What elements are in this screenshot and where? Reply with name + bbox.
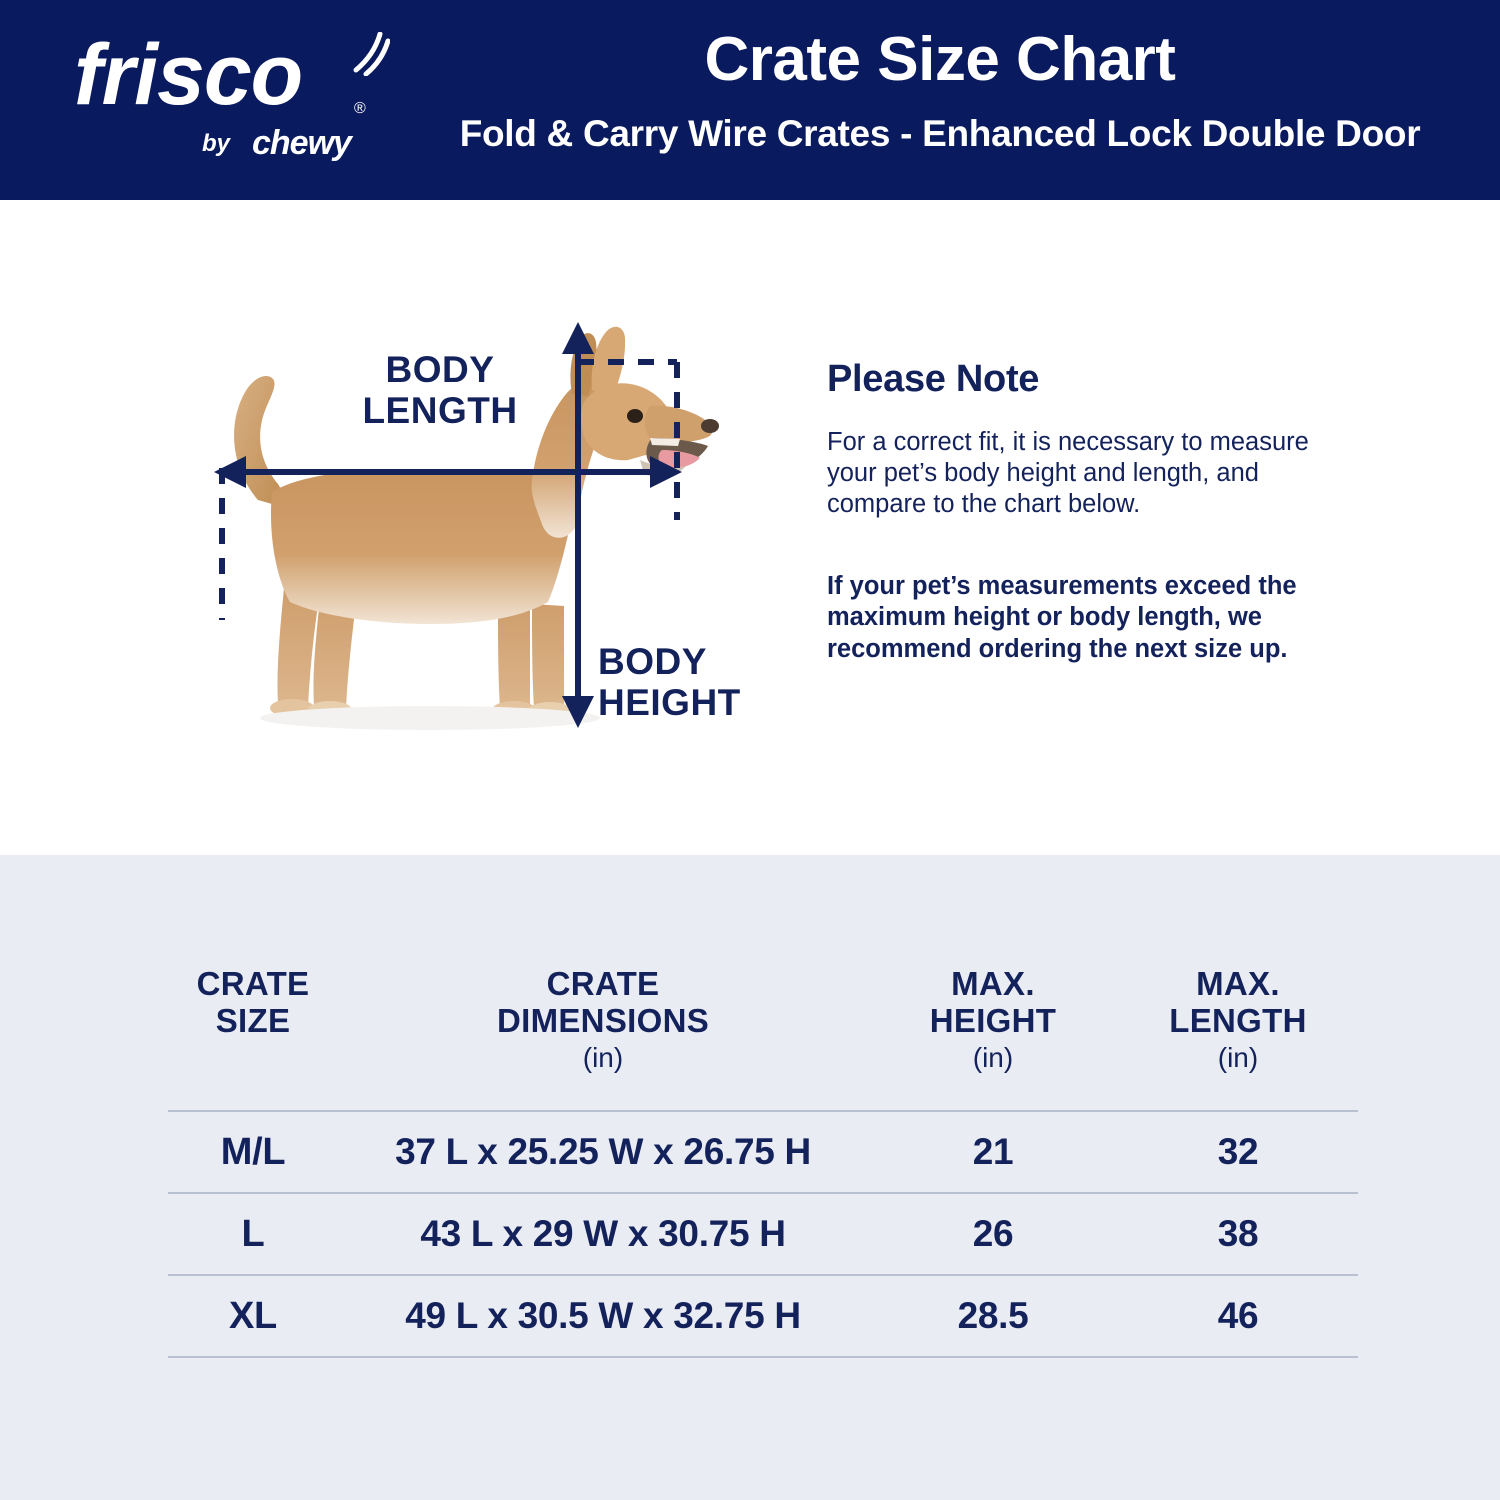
diagram-section: BODY LENGTH BODY HEIGHT Please Note For …: [0, 200, 1500, 855]
frisco-by-chewy-logo: frisco ® by chewy: [62, 26, 402, 176]
registered-trademark-icon: ®: [354, 100, 366, 118]
max-length-header-line2: LENGTH: [1169, 1002, 1306, 1039]
table-row: M/L 37 L x 25.25 W x 26.75 H 21 32: [168, 1110, 1358, 1192]
dog-front-leg-near: [532, 604, 564, 710]
max-length-header-line1: MAX.: [1196, 965, 1280, 1002]
dog-ground-shadow: [260, 706, 600, 730]
crate-dimensions-header-line2: DIMENSIONS: [497, 1002, 709, 1039]
please-note-panel: Please Note For a correct fit, it is nec…: [827, 358, 1357, 665]
cell-max-length: 46: [1118, 1295, 1358, 1337]
cell-crate-dimensions: 43 L x 29 W x 30.75 H: [338, 1213, 868, 1255]
body-length-label: BODY LENGTH: [320, 350, 560, 431]
column-header-max-height: MAX. HEIGHT (in): [868, 960, 1118, 1073]
dog-nose: [701, 419, 719, 433]
cell-max-height: 28.5: [868, 1295, 1118, 1337]
table-row: L 43 L x 29 W x 30.75 H 26 38: [168, 1192, 1358, 1274]
cell-crate-dimensions: 37 L x 25.25 W x 26.75 H: [338, 1131, 868, 1173]
please-note-paragraph-1: For a correct fit, it is necessary to me…: [827, 427, 1357, 520]
logo-by-text: by: [202, 130, 230, 158]
cell-crate-size: L: [168, 1213, 338, 1256]
chewy-wordmark: chewy: [252, 124, 351, 163]
column-header-max-length: MAX. LENGTH (in): [1118, 960, 1358, 1073]
please-note-title: Please Note: [827, 358, 1357, 401]
crate-size-table: CRATE SIZE CRATE DIMENSIONS (in) MAX. HE…: [168, 960, 1358, 1358]
dog-teeth: [650, 438, 680, 446]
page-header: frisco ® by chewy Crate Size Chart Fold …: [0, 0, 1500, 200]
body-length-label-line2: LENGTH: [362, 390, 517, 431]
cell-max-length: 32: [1118, 1131, 1358, 1173]
please-note-paragraph-2: If your pet’s measurements exceed the ma…: [827, 571, 1357, 664]
page-subtitle: Fold & Carry Wire Crates - Enhanced Lock…: [400, 112, 1480, 156]
size-table-section: CRATE SIZE CRATE DIMENSIONS (in) MAX. HE…: [0, 855, 1500, 1500]
cell-max-length: 38: [1118, 1213, 1358, 1255]
dog-front-leg-far: [498, 606, 530, 709]
column-header-crate-dimensions: CRATE DIMENSIONS (in): [338, 960, 868, 1073]
frisco-wordmark: frisco: [74, 32, 302, 118]
dog-tail: [234, 376, 281, 504]
cell-crate-size: XL: [168, 1295, 338, 1338]
frisco-swish-icon: [350, 32, 390, 76]
cell-max-height: 26: [868, 1213, 1118, 1255]
crate-dimensions-header-line1: CRATE: [547, 965, 660, 1002]
body-height-label-line1: BODY: [598, 641, 707, 682]
body-height-label: BODY HEIGHT: [598, 642, 818, 723]
max-length-header-unit: (in): [1118, 1042, 1358, 1073]
max-height-header-unit: (in): [868, 1042, 1118, 1073]
cell-max-height: 21: [868, 1131, 1118, 1173]
crate-size-header-line2: SIZE: [216, 1002, 291, 1039]
cell-crate-dimensions: 49 L x 30.5 W x 32.75 H: [338, 1295, 868, 1337]
dog-measurement-diagram: BODY LENGTH BODY HEIGHT: [180, 320, 800, 740]
body-length-label-line1: BODY: [386, 349, 495, 390]
table-header-row: CRATE SIZE CRATE DIMENSIONS (in) MAX. HE…: [168, 960, 1358, 1110]
max-height-header-line2: HEIGHT: [930, 1002, 1056, 1039]
crate-dimensions-header-unit: (in): [338, 1042, 868, 1073]
body-height-label-line2: HEIGHT: [598, 682, 741, 723]
dog-body: [271, 469, 574, 624]
crate-size-header-line1: CRATE: [197, 965, 310, 1002]
max-height-header-line1: MAX.: [951, 965, 1035, 1002]
page-title: Crate Size Chart: [400, 26, 1480, 94]
cell-crate-size: M/L: [168, 1131, 338, 1174]
column-header-crate-size: CRATE SIZE: [168, 960, 338, 1040]
dog-eye: [627, 409, 643, 423]
table-row: XL 49 L x 30.5 W x 32.75 H 28.5 46: [168, 1274, 1358, 1358]
